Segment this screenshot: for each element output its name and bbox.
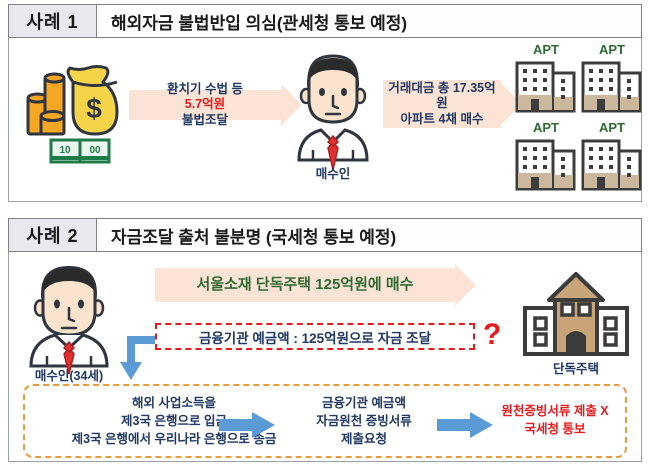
flow-step-3: 원천증빙서류 제출 X 국세청 통보 xyxy=(485,402,625,438)
svg-text:00: 00 xyxy=(89,145,101,156)
flow-step-2-line-3: 제출요청 xyxy=(289,430,439,448)
case-2-tag: 사례 2 xyxy=(9,219,97,251)
flow-step-1-line-3: 제3국 은행에서 우리나라 은행으로 송금 xyxy=(29,430,319,448)
apartment-item: APT xyxy=(581,120,643,191)
apt-label: APT xyxy=(583,42,641,57)
funding-source-text: 금융기관 예금액 : 125억원으로 자금 조달 xyxy=(199,327,431,347)
flow-step-1: 해외 사업소득을 제3국 은행으로 입금 제3국 은행에서 우리나라 은행으로 … xyxy=(29,394,319,448)
case-2-banner-text: 서울소재 단독주택 125억원에 매수 xyxy=(197,276,414,295)
case-2-banner: 서울소재 단독주택 125억원에 매수 xyxy=(155,268,455,302)
money-bag-icon: $ 10 00 xyxy=(21,56,121,168)
case-1-header: 사례 1 해외자금 불법반입 의심(관세청 통보 예정) xyxy=(8,4,642,38)
case-2-header: 사례 2 자금조달 출처 불분명 (국세청 통보 예정) xyxy=(8,218,642,252)
flow-step-3-line-2: 국세청 통보 xyxy=(485,420,625,438)
infographic-root: 사례 1 해외자금 불법반입 의심(관세청 통보 예정) xyxy=(0,0,650,468)
case-2-body: 매수인(34세) 서울소재 단독주택 125억원에 매수 금융기관 예금액 : … xyxy=(8,252,642,462)
case-1-panel: 사례 1 해외자금 불법반입 의심(관세청 통보 예정) xyxy=(8,4,642,202)
funding-source-box: 금융기관 예금액 : 125억원으로 자금 조달 xyxy=(155,323,475,350)
case-1-arrow-2: 거래대금 총 17.35억원 아파트 4채 매수 xyxy=(383,80,501,128)
apartment-item: APT xyxy=(515,42,577,113)
flow-step-2-line-1: 금융기관 예금액 xyxy=(289,394,439,412)
case-2-title: 자금조달 출처 불분명 (국세청 통보 예정) xyxy=(97,219,641,251)
svg-text:10: 10 xyxy=(59,145,71,156)
case-2-buyer-label: 매수인(34세) xyxy=(17,365,121,384)
flow-step-2: 금융기관 예금액 자금원천 증빙서류 제출요청 xyxy=(289,394,439,448)
apartment-item: APT xyxy=(581,42,643,113)
apt-label: APT xyxy=(583,120,641,135)
case-1-tag: 사례 1 xyxy=(9,5,97,37)
flow-step-1-line-1: 해외 사업소득을 xyxy=(29,394,319,412)
case-1-arrow-2-line-1: 거래대금 총 17.35억원 xyxy=(383,81,501,112)
detached-house-icon xyxy=(521,270,631,356)
flow-container: 해외 사업소득을 제3국 은행으로 입금 제3국 은행에서 우리나라 은행으로 … xyxy=(23,384,627,458)
case-1-body: $ 10 00 환치기 수법 등 5.7억원 불법조달 xyxy=(8,38,642,202)
case-2-house-label: 단독주택 xyxy=(521,358,631,377)
buyer-avatar-icon xyxy=(291,50,375,160)
case-1-arrow-2-line-2: 아파트 4채 매수 xyxy=(401,112,484,128)
question-mark-icon: ? xyxy=(483,320,501,350)
case-2-buyer-avatar-icon xyxy=(23,262,115,366)
svg-text:$: $ xyxy=(86,93,102,124)
flow-step-1-line-2: 제3국 은행으로 입금 xyxy=(29,412,319,430)
apartment-item: APT xyxy=(515,120,577,191)
apt-label: APT xyxy=(517,120,575,135)
apt-label: APT xyxy=(517,42,575,57)
case-1-arrow-1-text: 환치기 수법 등 5.7억원 불법조달 xyxy=(167,82,243,129)
case-1-title: 해외자금 불법반입 의심(관세청 통보 예정) xyxy=(97,5,641,37)
case-1-person-label: 매수인 xyxy=(291,163,375,182)
case-1-arrow-1: 환치기 수법 등 5.7억원 불법조달 xyxy=(129,90,281,120)
flow-arrow-1-icon xyxy=(219,412,275,438)
flow-step-3-line-1: 원천증빙서류 제출 X xyxy=(485,402,625,420)
apartment-group: APT xyxy=(515,42,639,194)
flow-step-2-line-2: 자금원천 증빙서류 xyxy=(289,412,439,430)
case-2-panel: 사례 2 자금조달 출처 불분명 (국세청 통보 예정) xyxy=(8,218,642,462)
